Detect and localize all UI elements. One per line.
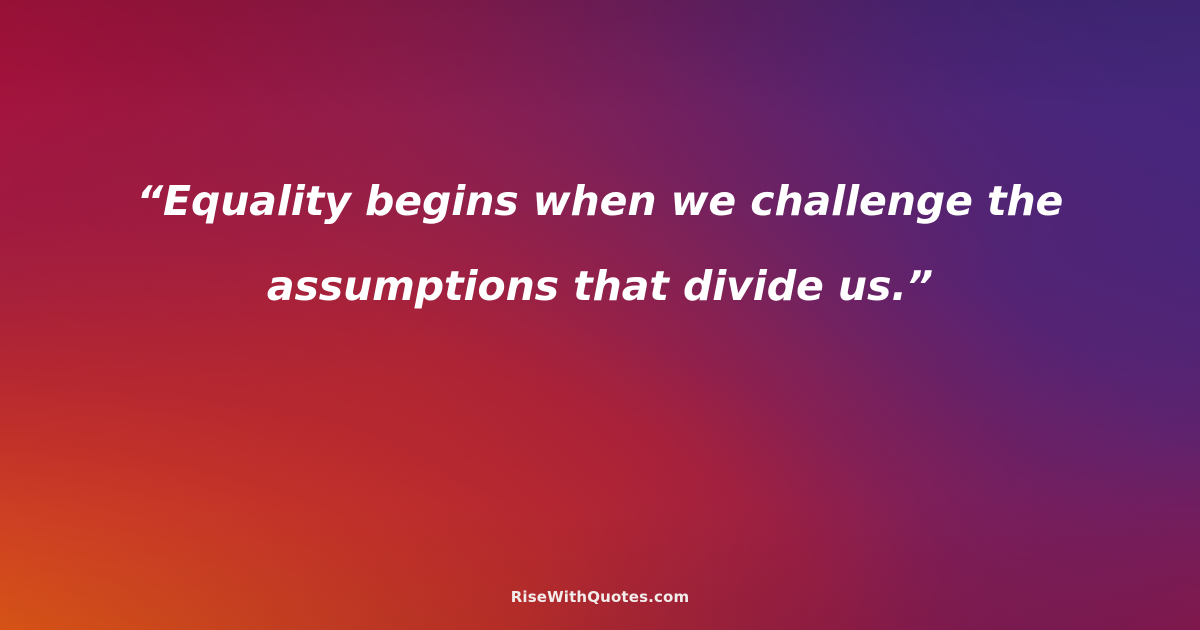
site-credit-label: RiseWithQuotes.com [0, 588, 1200, 606]
quote-text: “Equality begins when we challenge the a… [80, 159, 1120, 329]
quote-card: “Equality begins when we challenge the a… [0, 0, 1200, 630]
card-content: “Equality begins when we challenge the a… [0, 0, 1200, 630]
